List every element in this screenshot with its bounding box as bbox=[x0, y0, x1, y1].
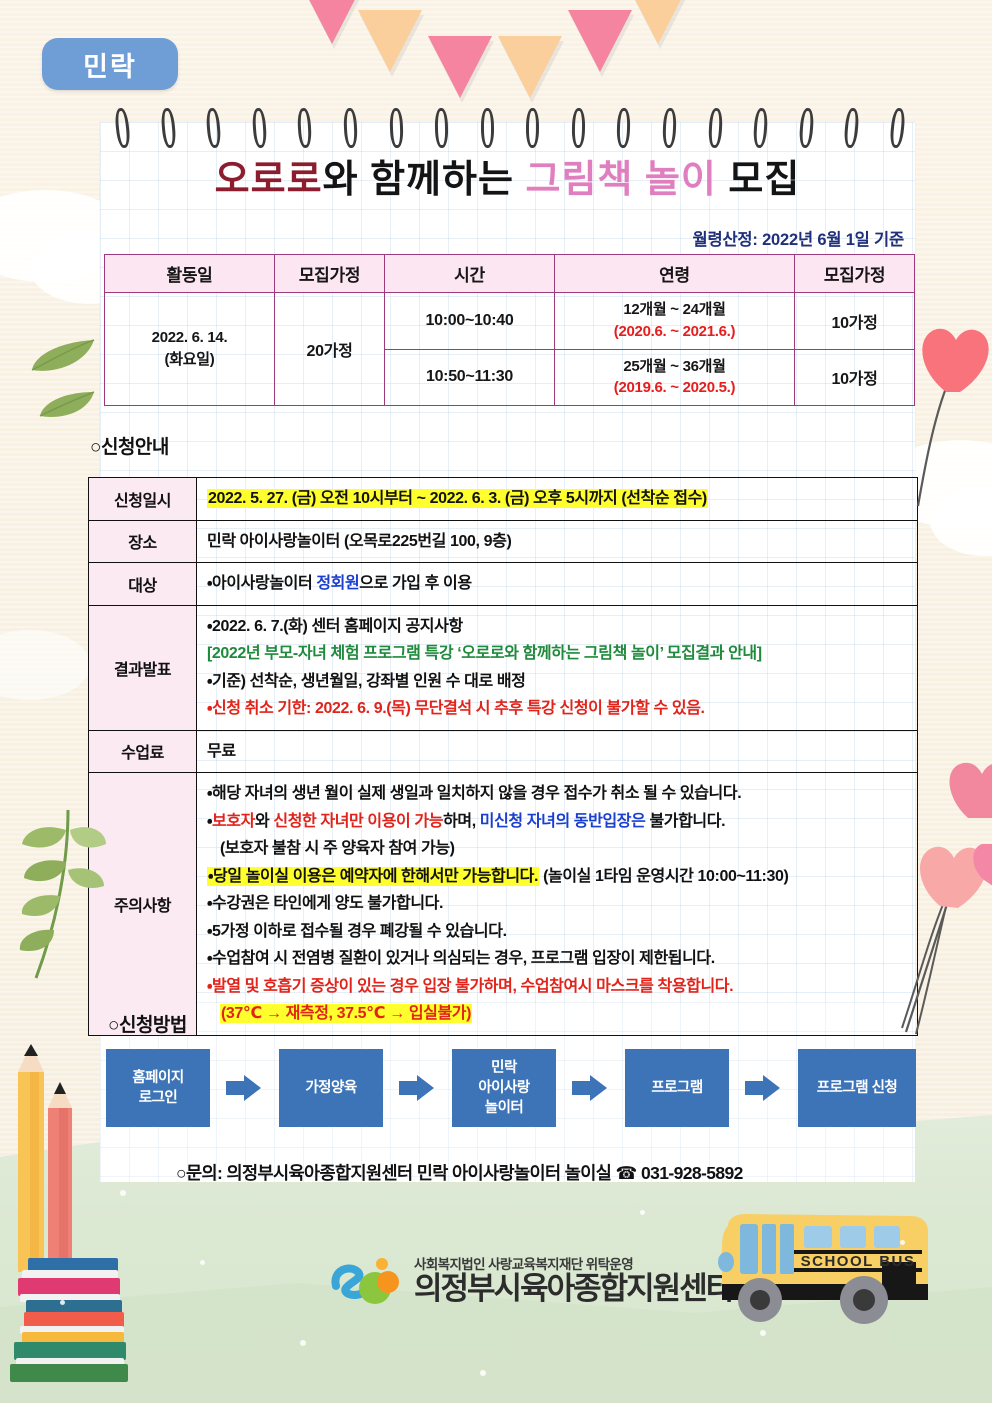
spiral-ring bbox=[481, 108, 494, 148]
dot-decoration bbox=[760, 1330, 766, 1336]
apply-period-text: 2022. 5. 27. (금) 오전 10시부터 ~ 2022. 6. 3. … bbox=[207, 489, 708, 508]
spiral-ring bbox=[160, 107, 177, 148]
page-title: 오로로와 함께하는 그림책 놀이 모집 bbox=[100, 148, 915, 203]
application-info-table: 신청일시 2022. 5. 27. (금) 오전 10시부터 ~ 2022. 6… bbox=[88, 477, 918, 1036]
schedule-time-2: 10:50~11:30 bbox=[385, 349, 555, 406]
schedule-col-families-total: 모집가정 bbox=[275, 255, 385, 293]
info-label-fee: 수업료 bbox=[89, 730, 197, 773]
flow-step-2: 가정양육 bbox=[279, 1049, 383, 1127]
schedule-families-2: 10가정 bbox=[795, 349, 915, 406]
info-value-place: 민락 아이사랑놀이터 (오목로225번길 100, 9층) bbox=[197, 520, 918, 563]
spiral-ring bbox=[435, 108, 449, 148]
title-part-with: 와 함께하는 bbox=[323, 159, 514, 201]
schedule-col-families: 모집가정 bbox=[795, 255, 915, 293]
info-row-notice: 주의사항 ・해당 자녀의 생년 월이 실제 생일과 일치하지 않을 경우 접수가… bbox=[89, 773, 918, 1036]
spiral-ring bbox=[844, 107, 861, 148]
info-label-apply-period: 신청일시 bbox=[89, 478, 197, 521]
schedule-col-age: 연령 bbox=[555, 255, 795, 293]
flow-step-label: 가정양육 bbox=[305, 1078, 356, 1098]
notice-line-8: ・발열 및 호흡기 증상이 있는 경우 입장 불가하며, 수업참여시 마스크를 … bbox=[207, 973, 907, 1001]
schedule-table: 활동일 모집가정 시간 연령 모집가정 2022. 6. 14. (화요일) 2… bbox=[104, 254, 915, 406]
schedule-families-1: 10가정 bbox=[795, 293, 915, 350]
schedule-activity-date-cell: 2022. 6. 14. (화요일) bbox=[105, 293, 275, 406]
poster-root: 민락 오로로와 함께하는 그림책 놀이 모집 월령산정: 2022년 6월 1일… bbox=[0, 0, 992, 1403]
application-flow-diagram: 홈페이지로그인가정양육민락아이사랑놀이터프로그램프로그램 신청 bbox=[106, 1046, 916, 1130]
dot-decoration bbox=[120, 1190, 126, 1196]
dot-decoration bbox=[60, 1300, 65, 1305]
spiral-ring bbox=[662, 108, 677, 149]
flow-step-label: 프로그램 bbox=[651, 1078, 702, 1098]
flow-arrow-icon bbox=[399, 1075, 437, 1101]
flow-step-label: 민락아이사랑놀이터 bbox=[478, 1058, 529, 1118]
info-label-target: 대상 bbox=[89, 563, 197, 606]
info-label-result: 결과발표 bbox=[89, 605, 197, 730]
info-value-result: ・2022. 6. 7.(화) 센터 홈페이지 공지사항 [2022년 부모-자… bbox=[197, 605, 918, 730]
notice-registered-child: 신청한 자녀만 이용이 가능 bbox=[273, 813, 443, 830]
target-text-c: 으로 가입 후 이용 bbox=[359, 575, 471, 592]
spiral-binding-rings bbox=[100, 108, 915, 148]
flow-step-4: 프로그램 bbox=[625, 1049, 729, 1127]
notice-guardian: 보호자 bbox=[212, 813, 255, 830]
age-calculation-note: 월령산정: 2022년 6월 1일 기준 bbox=[692, 226, 904, 250]
flow-arrow-icon bbox=[226, 1075, 264, 1101]
schedule-activity-day: (화요일) bbox=[107, 349, 272, 371]
notice-playroom-hours: (놀이실 1타임 운영시간 10:00~11:30) bbox=[539, 868, 788, 885]
spiral-ring bbox=[798, 108, 814, 149]
info-row-target: 대상 ・아이사랑놀이터 정회원으로 가입 후 이용 bbox=[89, 563, 918, 606]
footer-logo-text: 사회복지법인 사랑교육복지재단 위탁운영 의정부시육아종합지원센터 bbox=[414, 1253, 732, 1306]
target-text-member: 정회원 bbox=[316, 575, 359, 592]
result-line-3: ・기준) 선착순, 생년월일, 강좌별 인원 수 대로 배정 bbox=[207, 668, 907, 696]
target-text-a: ・아이사랑놀이터 bbox=[207, 575, 316, 592]
spiral-ring bbox=[708, 108, 723, 149]
flow-step-5: 프로그램 신청 bbox=[798, 1049, 916, 1127]
footer-logo: 사회복지법인 사랑교육복지재단 위탁운영 의정부시육아종합지원센터 bbox=[330, 1248, 732, 1310]
spiral-ring bbox=[389, 108, 403, 148]
location-badge: 민락 bbox=[42, 38, 178, 90]
bunting-decoration bbox=[300, 0, 700, 110]
spiral-ring bbox=[343, 108, 358, 149]
flow-arrow-icon bbox=[572, 1075, 610, 1101]
dot-decoration bbox=[640, 1210, 645, 1215]
notice-temperature: (37℃ → 재측정, 37.5℃ → 입실불가) bbox=[220, 1004, 472, 1023]
notice-line-3: (보호자 불참 시 주 양육자 참여 가능) bbox=[207, 835, 455, 863]
spiral-ring bbox=[572, 108, 586, 148]
notice-line-5: ・수강권은 타인에게 양도 불가합니다. bbox=[207, 890, 907, 918]
notice-line-7: ・수업참여 시 전염병 질환이 있거나 의심되는 경우, 프로그램 입장이 제한… bbox=[207, 945, 907, 973]
schedule-activity-date: 2022. 6. 14. bbox=[107, 327, 272, 349]
school-bus-decoration: SCHOOL BUS bbox=[712, 1192, 952, 1342]
info-label-place: 장소 bbox=[89, 520, 197, 563]
dot-decoration bbox=[900, 1240, 905, 1245]
spiral-ring bbox=[889, 107, 906, 148]
spiral-ring bbox=[251, 108, 267, 149]
flow-step-3: 민락아이사랑놀이터 bbox=[452, 1049, 556, 1127]
notice-line-2: ・보호자와 신청한 자녀만 이용이 가능하며, 미신청 자녀의 동반입장은 불가… bbox=[207, 808, 907, 836]
schedule-age-range-1: (2020.6. ~ 2021.6.) bbox=[557, 321, 792, 343]
schedule-total-families: 20가정 bbox=[275, 293, 385, 406]
footer-org-small: 사회복지법인 사랑교육복지재단 위탁운영 bbox=[414, 1253, 732, 1273]
dot-decoration bbox=[200, 1260, 205, 1265]
notice-line-1: ・해당 자녀의 생년 월이 실제 생일과 일치하지 않을 경우 접수가 취소 될… bbox=[207, 780, 907, 808]
bus-text: SCHOOL BUS bbox=[801, 1253, 916, 1270]
result-line-4: ・신청 취소 기한: 2022. 6. 9.(목) 무단결석 시 추후 특강 신… bbox=[207, 695, 907, 723]
spiral-ring bbox=[114, 107, 131, 148]
dot-decoration bbox=[300, 1340, 306, 1346]
schedule-age-range-2: (2019.6. ~ 2020.5.) bbox=[557, 377, 792, 399]
result-line-2: [2022년 부모-자녀 체험 프로그램 특강 ‘오로로와 함께하는 그림책 놀… bbox=[207, 640, 907, 668]
schedule-col-activity-date: 활동일 bbox=[105, 255, 275, 293]
spiral-ring bbox=[526, 108, 539, 148]
schedule-time-1: 10:00~10:40 bbox=[385, 293, 555, 350]
center-logo-icon bbox=[330, 1248, 404, 1310]
info-row-fee: 수업료 무료 bbox=[89, 730, 918, 773]
info-row-apply-period: 신청일시 2022. 5. 27. (금) 오전 10시부터 ~ 2022. 6… bbox=[89, 478, 918, 521]
dot-decoration bbox=[480, 1370, 486, 1376]
info-row-result: 결과발표 ・2022. 6. 7.(화) 센터 홈페이지 공지사항 [2022년… bbox=[89, 605, 918, 730]
notice-line-6: ・5가정 이하로 접수될 경우 폐강될 수 있습니다. bbox=[207, 918, 907, 946]
spiral-ring bbox=[206, 108, 222, 149]
schedule-row: 2022. 6. 14. (화요일) 20가정 10:00~10:40 12개월… bbox=[105, 293, 915, 350]
schedule-col-time: 시간 bbox=[385, 255, 555, 293]
info-row-place: 장소 민락 아이사랑놀이터 (오목로225번길 100, 9층) bbox=[89, 520, 918, 563]
title-part-picturebook-play: 그림책 놀이 bbox=[525, 159, 716, 201]
info-value-apply-period: 2022. 5. 27. (금) 오전 10시부터 ~ 2022. 6. 3. … bbox=[197, 478, 918, 521]
notice-unregistered: 미신청 자녀의 동반입장은 bbox=[480, 813, 646, 830]
flow-arrow-icon bbox=[745, 1075, 783, 1101]
info-value-target: ・아이사랑놀이터 정회원으로 가입 후 이용 bbox=[197, 563, 918, 606]
notice-reservation-highlight: ・당일 놀이실 이용은 예약자에 한해서만 가능합니다. bbox=[207, 867, 539, 886]
notice-line-9: (37℃ → 재측정, 37.5℃ → 입실불가) bbox=[207, 1000, 472, 1028]
notice-line-4: ・당일 놀이실 이용은 예약자에 한해서만 가능합니다. (놀이실 1타임 운영… bbox=[207, 863, 907, 891]
section-heading-apply-info: ○신청안내 bbox=[90, 432, 169, 459]
schedule-age-1: 12개월 ~ 24개월 bbox=[557, 299, 792, 321]
footer-org-large: 의정부시육아종합지원센터 bbox=[414, 1273, 732, 1306]
result-line-1: ・2022. 6. 7.(화) 센터 홈페이지 공지사항 bbox=[207, 613, 907, 641]
contact-line: ○문의: 의정부시육아종합지원센터 민락 아이사랑놀이터 놀이실 ☎ 031-9… bbox=[176, 1160, 743, 1185]
flow-step-label: 프로그램 신청 bbox=[817, 1078, 898, 1098]
title-part-recruit: 모집 bbox=[728, 159, 800, 201]
title-part-ororo: 오로로 bbox=[215, 159, 323, 201]
spiral-ring bbox=[753, 108, 769, 149]
schedule-header-row: 활동일 모집가정 시간 연령 모집가정 bbox=[105, 255, 915, 293]
spiral-ring bbox=[617, 108, 631, 148]
schedule-age-cell-2: 25개월 ~ 36개월 (2019.6. ~ 2020.5.) bbox=[555, 349, 795, 406]
schedule-age-cell-1: 12개월 ~ 24개월 (2020.6. ~ 2021.6.) bbox=[555, 293, 795, 350]
cloud-decoration bbox=[0, 630, 90, 700]
info-value-notice: ・해당 자녀의 생년 월이 실제 생일과 일치하지 않을 경우 접수가 취소 될… bbox=[197, 773, 918, 1036]
info-value-fee: 무료 bbox=[197, 730, 918, 773]
spiral-ring bbox=[297, 108, 312, 149]
schedule-age-2: 25개월 ~ 36개월 bbox=[557, 356, 792, 378]
